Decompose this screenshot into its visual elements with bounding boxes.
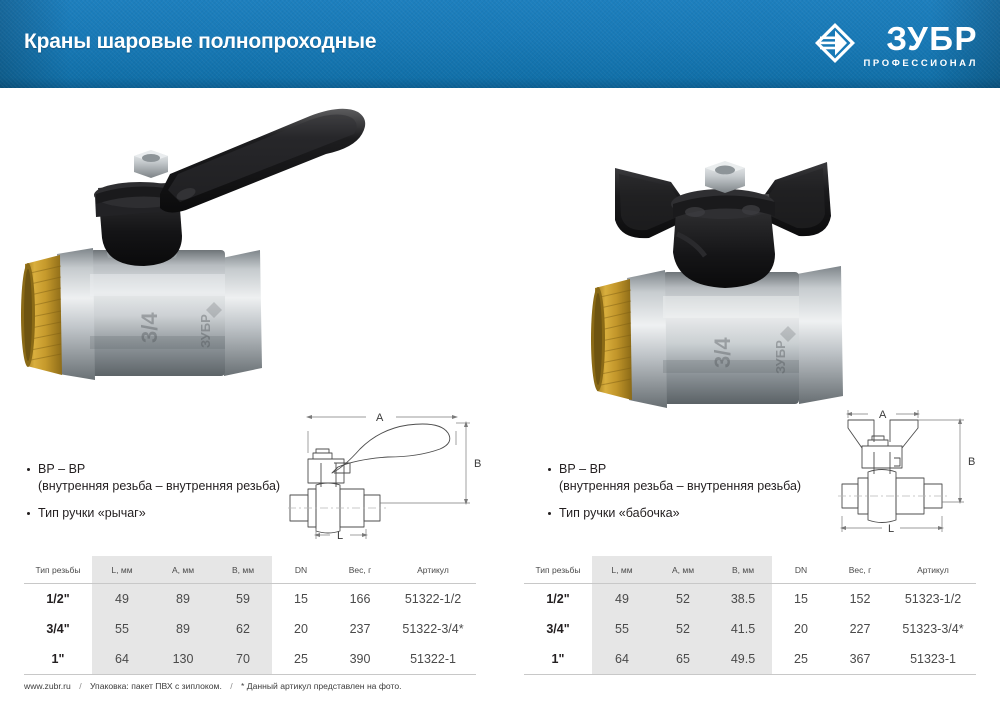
cell-b: 62 xyxy=(214,614,272,644)
dim-label-l: L xyxy=(337,530,343,541)
list-item: ВР – ВР (внутренняя резьба – внутренняя … xyxy=(38,461,284,495)
cell-b: 38.5 xyxy=(714,584,772,615)
footer-note: * Данный артикул представлен на фото. xyxy=(241,681,402,691)
svg-text:ЗУБР: ЗУБР xyxy=(773,340,788,374)
th-article: Артикул xyxy=(390,556,476,584)
zubr-logo-mark-icon xyxy=(814,22,856,64)
dim-label-a: A xyxy=(879,409,887,421)
right-product-column: 3/4 ЗУБР xyxy=(500,88,1000,707)
footer-separator: / xyxy=(73,681,87,691)
right-feature-list: ВР – ВР (внутренняя резьба – внутренняя … xyxy=(545,461,815,522)
table-row: 1" 64 130 70 25 390 51322-1 xyxy=(24,644,476,675)
cell-dn: 15 xyxy=(772,584,830,615)
logo-tagline: ПРОФЕССИОНАЛ xyxy=(863,58,978,69)
cell-article: 51322-1 xyxy=(390,644,476,675)
cell-article: 51323-1 xyxy=(890,644,976,675)
cell-thread-type: 1/2" xyxy=(24,584,92,615)
cell-weight: 227 xyxy=(830,614,890,644)
table-row: 3/4" 55 89 62 20 237 51322-3/4* xyxy=(24,614,476,644)
cell-thread-type: 1" xyxy=(24,644,92,675)
cell-article: 51323-1/2 xyxy=(890,584,976,615)
th-weight: Вес, г xyxy=(330,556,390,584)
feature-main-text: Тип ручки «бабочка» xyxy=(559,506,680,520)
cell-article: 51322-3/4* xyxy=(390,614,476,644)
feature-main-text: ВР – ВР xyxy=(38,462,85,476)
table-row: 1" 64 65 49.5 25 367 51323-1 xyxy=(524,644,976,675)
th-article: Артикул xyxy=(890,556,976,584)
cell-length: 55 xyxy=(592,614,652,644)
th-thread-type: Тип резьбы xyxy=(524,556,592,584)
feature-main-text: ВР – ВР xyxy=(559,462,606,476)
left-feature-list: ВР – ВР (внутренняя резьба – внутренняя … xyxy=(24,461,284,522)
cell-dn: 25 xyxy=(272,644,330,675)
cell-b: 59 xyxy=(214,584,272,615)
zubr-logo: ЗУБР ПРОФЕССИОНАЛ xyxy=(814,22,978,68)
svg-text:3/4: 3/4 xyxy=(137,312,162,343)
table-row: 1/2" 49 52 38.5 15 152 51323-1/2 xyxy=(524,584,976,615)
th-b: B, мм xyxy=(714,556,772,584)
cell-a: 52 xyxy=(652,614,714,644)
left-specs-table: Тип резьбы L, мм A, мм B, мм DN Вес, г А… xyxy=(24,556,476,675)
cell-weight: 166 xyxy=(330,584,390,615)
th-thread-type: Тип резьбы xyxy=(24,556,92,584)
footer-website[interactable]: www.zubr.ru xyxy=(24,681,71,691)
logo-wordmark: ЗУБР xyxy=(886,22,978,55)
cell-thread-type: 3/4" xyxy=(24,614,92,644)
th-a: A, мм xyxy=(152,556,214,584)
cell-b: 41.5 xyxy=(714,614,772,644)
feature-sub-text: (внутренняя резьба – внутренняя резьба) xyxy=(38,478,284,495)
th-dn: DN xyxy=(772,556,830,584)
th-length: L, мм xyxy=(92,556,152,584)
cell-length: 64 xyxy=(592,644,652,675)
svg-text:3/4: 3/4 xyxy=(710,337,735,368)
th-b: B, мм xyxy=(214,556,272,584)
th-dn: DN xyxy=(272,556,330,584)
cell-length: 49 xyxy=(92,584,152,615)
cell-length: 55 xyxy=(92,614,152,644)
page-footer: www.zubr.ru / Упаковка: пакет ПВХ с зипл… xyxy=(24,681,402,691)
cell-thread-type: 3/4" xyxy=(524,614,592,644)
cell-article: 51322-1/2 xyxy=(390,584,476,615)
cell-length: 64 xyxy=(92,644,152,675)
th-weight: Вес, г xyxy=(830,556,890,584)
cell-dn: 20 xyxy=(272,614,330,644)
cell-b: 49.5 xyxy=(714,644,772,675)
th-a: A, мм xyxy=(652,556,714,584)
product-photo-lever-valve: 3/4 ЗУБР xyxy=(10,98,480,418)
cell-weight: 237 xyxy=(330,614,390,644)
table-header-row: Тип резьбы L, мм A, мм B, мм DN Вес, г А… xyxy=(24,556,476,584)
cell-dn: 25 xyxy=(772,644,830,675)
svg-text:ЗУБР: ЗУБР xyxy=(198,314,213,348)
cell-a: 89 xyxy=(152,584,214,615)
cell-thread-type: 1" xyxy=(524,644,592,675)
th-length: L, мм xyxy=(592,556,652,584)
cell-a: 89 xyxy=(152,614,214,644)
cell-weight: 390 xyxy=(330,644,390,675)
cell-a: 130 xyxy=(152,644,214,675)
cell-article: 51323-3/4* xyxy=(890,614,976,644)
cell-dn: 20 xyxy=(772,614,830,644)
table-row: 3/4" 55 52 41.5 20 227 51323-3/4* xyxy=(524,614,976,644)
footer-separator: / xyxy=(224,681,238,691)
cell-thread-type: 1/2" xyxy=(524,584,592,615)
dim-label-a: A xyxy=(376,412,384,424)
footer-packaging: Упаковка: пакет ПВХ с зиплоком. xyxy=(90,681,222,691)
cell-length: 49 xyxy=(592,584,652,615)
right-specs-table: Тип резьбы L, мм A, мм B, мм DN Вес, г А… xyxy=(524,556,976,675)
right-technical-drawing: A B L xyxy=(838,406,988,541)
product-photo-butterfly-valve: 3/4 ЗУБР xyxy=(585,146,895,416)
left-technical-drawing: A B L xyxy=(288,401,498,541)
table-row: 1/2" 49 89 59 15 166 51322-1/2 xyxy=(24,584,476,615)
dim-label-b: B xyxy=(474,458,481,470)
dim-label-l: L xyxy=(888,523,894,535)
page-header: Краны шаровые полнопроходные ЗУБР ПРОФЕС… xyxy=(0,0,1000,88)
feature-sub-text: (внутренняя резьба – внутренняя резьба) xyxy=(559,478,815,495)
left-product-column: 3/4 ЗУБР xyxy=(0,88,500,707)
list-item: Тип ручки «рычаг» xyxy=(38,505,284,522)
product-datasheet-page: Краны шаровые полнопроходные ЗУБР ПРОФЕС… xyxy=(0,0,1000,707)
list-item: Тип ручки «бабочка» xyxy=(559,505,815,522)
feature-main-text: Тип ручки «рычаг» xyxy=(38,506,146,520)
table-header-row: Тип резьбы L, мм A, мм B, мм DN Вес, г А… xyxy=(524,556,976,584)
cell-a: 65 xyxy=(652,644,714,675)
page-title: Краны шаровые полнопроходные xyxy=(24,30,376,54)
cell-b: 70 xyxy=(214,644,272,675)
cell-a: 52 xyxy=(652,584,714,615)
cell-weight: 367 xyxy=(830,644,890,675)
dim-label-b: B xyxy=(968,456,975,468)
cell-dn: 15 xyxy=(272,584,330,615)
cell-weight: 152 xyxy=(830,584,890,615)
list-item: ВР – ВР (внутренняя резьба – внутренняя … xyxy=(559,461,815,495)
